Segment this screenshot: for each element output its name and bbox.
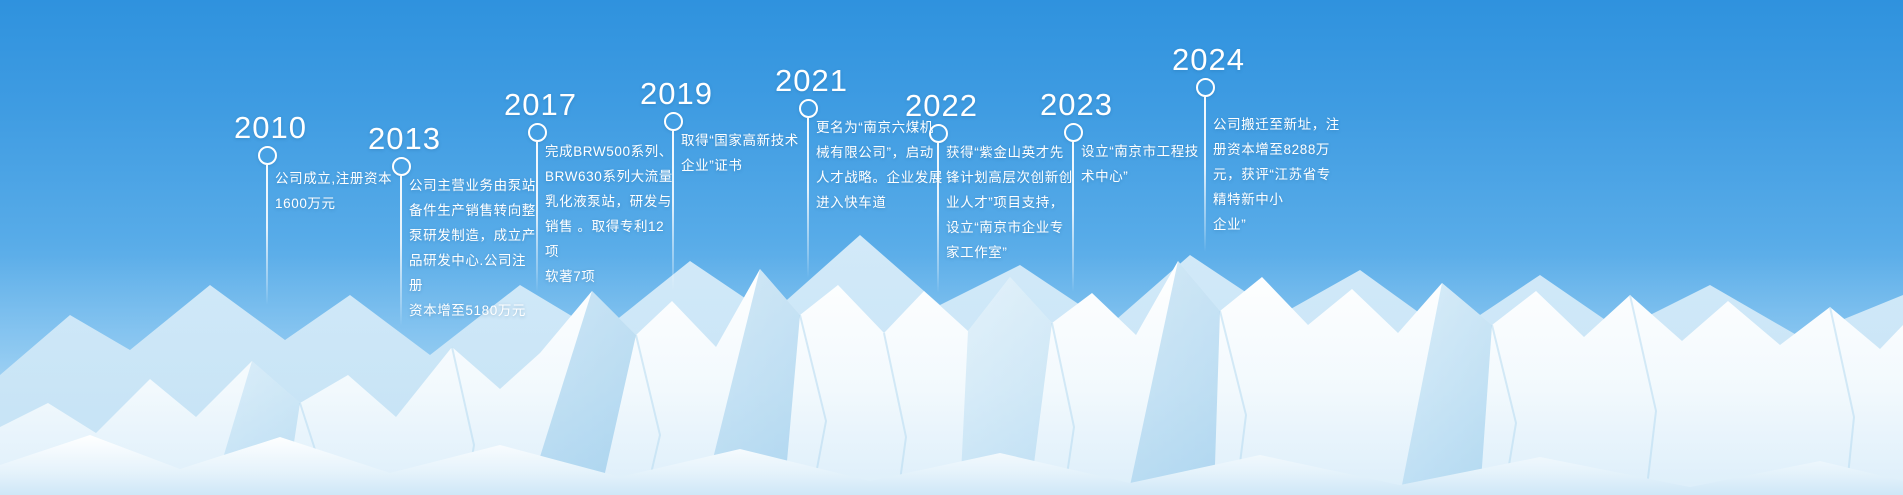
circle-outline-icon[interactable] — [258, 146, 277, 165]
timeline-year-label: 2024 — [1172, 42, 1245, 78]
timeline-event-description: 完成BRW500系列、 BRW630系列大流量 乳化液泵站，研发与 销售 。取得… — [545, 139, 677, 289]
timeline-event-description: 公司成立,注册资本 1600万元 — [275, 166, 400, 216]
timeline-year-label: 2017 — [504, 87, 577, 123]
timeline-stem-line — [937, 143, 939, 293]
timeline-year-label: 2013 — [368, 121, 441, 157]
timeline: 2010公司成立,注册资本 1600万元2013公司主营业务由泵站 备件生产销售… — [0, 0, 1903, 495]
timeline-year-label: 2023 — [1040, 87, 1113, 123]
timeline-infographic: 2010公司成立,注册资本 1600万元2013公司主营业务由泵站 备件生产销售… — [0, 0, 1903, 495]
timeline-year-label: 2021 — [775, 63, 848, 99]
timeline-event-description: 公司主营业务由泵站 备件生产销售转向整 泵研发制造，成立产 品研发中心.公司注册… — [409, 173, 539, 323]
timeline-year-label: 2019 — [640, 76, 713, 112]
timeline-stem-line — [807, 118, 809, 278]
timeline-event-description: 公司搬迁至新址，注 册资本增至8288万 元，获评“江苏省专 精特新中小 企业” — [1213, 112, 1343, 237]
timeline-year-label: 2010 — [234, 110, 307, 146]
timeline-stem-line — [536, 142, 538, 292]
timeline-stem-line — [1072, 142, 1074, 292]
circle-outline-icon[interactable] — [1196, 78, 1215, 97]
timeline-event-description: 取得“国家高新技术 企业”证书 — [681, 128, 807, 178]
timeline-stem-line — [400, 176, 402, 326]
timeline-stem-line — [1204, 97, 1206, 252]
timeline-year-label: 2022 — [905, 88, 978, 124]
timeline-stem-line — [672, 131, 674, 291]
timeline-event-description: 设立“南京市工程技 术中心” — [1081, 139, 1209, 189]
timeline-event-description: 获得“紫金山英才先 锋计划高层次创新创 业人才”项目支持， 设立“南京市企业专 … — [946, 140, 1074, 265]
timeline-stem-line — [266, 165, 268, 305]
timeline-event-description: 更名为“南京六煤机 械有限公司”，启动 人才战略。企业发展 进入快车道 — [816, 115, 944, 215]
